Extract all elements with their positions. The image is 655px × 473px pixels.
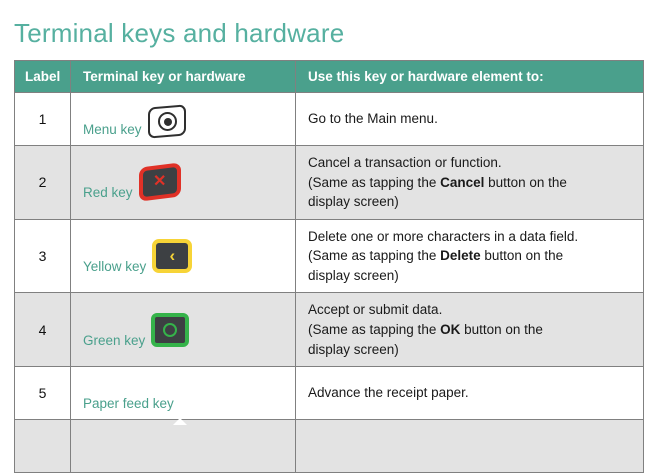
description-line: display screen) [308, 192, 633, 212]
row-label: 2 [15, 146, 71, 220]
description-line: (Same as tapping the OK button on the [308, 320, 633, 340]
key-name-label: Paper feed key [83, 396, 174, 413]
menu-key-icon [148, 106, 186, 139]
row-key-cell: Menu key [71, 93, 296, 146]
column-header-description: Use this key or hardware element to: [296, 61, 644, 93]
key-name-label: Red key [83, 185, 133, 202]
key-name-label: Green key [83, 333, 145, 350]
row-key-cell: Paper feed key [71, 367, 296, 420]
description-line: Delete one or more characters in a data … [308, 227, 633, 247]
description-line: (Same as tapping the Cancel button on th… [308, 173, 633, 193]
row-description: Cancel a transaction or function.(Same a… [296, 146, 644, 220]
table-row [15, 420, 644, 473]
description-line [308, 436, 633, 456]
terminal-keys-table: Label Terminal key or hardware Use this … [14, 60, 644, 473]
row-description [296, 420, 644, 473]
description-line: Cancel a transaction or function. [308, 153, 633, 173]
key-name-label: Yellow key [83, 259, 146, 276]
row-label: 4 [15, 293, 71, 367]
document-page: Terminal keys and hardware Label Termina… [0, 0, 655, 440]
red-cancel-key-icon: ✕ [139, 165, 181, 202]
row-label [15, 420, 71, 473]
description-line: Advance the receipt paper. [308, 383, 633, 403]
description-emphasis: Delete [440, 248, 481, 263]
row-description: Go to the Main menu. [296, 93, 644, 146]
row-key-cell: Green key [71, 293, 296, 367]
row-label: 1 [15, 93, 71, 146]
description-line: Go to the Main menu. [308, 109, 633, 129]
row-key-cell: Yellow key‹ [71, 219, 296, 293]
table-row: 5Paper feed keyAdvance the receipt paper… [15, 367, 644, 420]
yellow-delete-key-icon: ‹ [152, 239, 192, 276]
row-label: 3 [15, 219, 71, 293]
row-description: Delete one or more characters in a data … [296, 219, 644, 293]
column-header-label: Label [15, 61, 71, 93]
description-line: (Same as tapping the Delete button on th… [308, 246, 633, 266]
page-title: Terminal keys and hardware [14, 18, 344, 49]
table-body: 1Menu keyGo to the Main menu.2Red key✕Ca… [15, 93, 644, 473]
description-line: display screen) [308, 266, 633, 286]
key-name-label: Menu key [83, 122, 142, 139]
column-header-key: Terminal key or hardware [71, 61, 296, 93]
row-key-cell: Red key✕ [71, 146, 296, 220]
table-row: 1Menu keyGo to the Main menu. [15, 93, 644, 146]
description-line: Accept or submit data. [308, 300, 633, 320]
description-emphasis: Cancel [440, 175, 484, 190]
row-description: Advance the receipt paper. [296, 367, 644, 420]
table-row: 4Green keyAccept or submit data.(Same as… [15, 293, 644, 367]
table-header-row: Label Terminal key or hardware Use this … [15, 61, 644, 93]
description-line: display screen) [308, 340, 633, 360]
green-ok-key-icon [151, 313, 189, 350]
table-row: 2Red key✕Cancel a transaction or functio… [15, 146, 644, 220]
row-label: 5 [15, 367, 71, 420]
description-emphasis: OK [440, 322, 460, 337]
row-description: Accept or submit data.(Same as tapping t… [296, 293, 644, 367]
table-row: 3Yellow key‹Delete one or more character… [15, 219, 644, 293]
row-key-cell [71, 420, 296, 473]
